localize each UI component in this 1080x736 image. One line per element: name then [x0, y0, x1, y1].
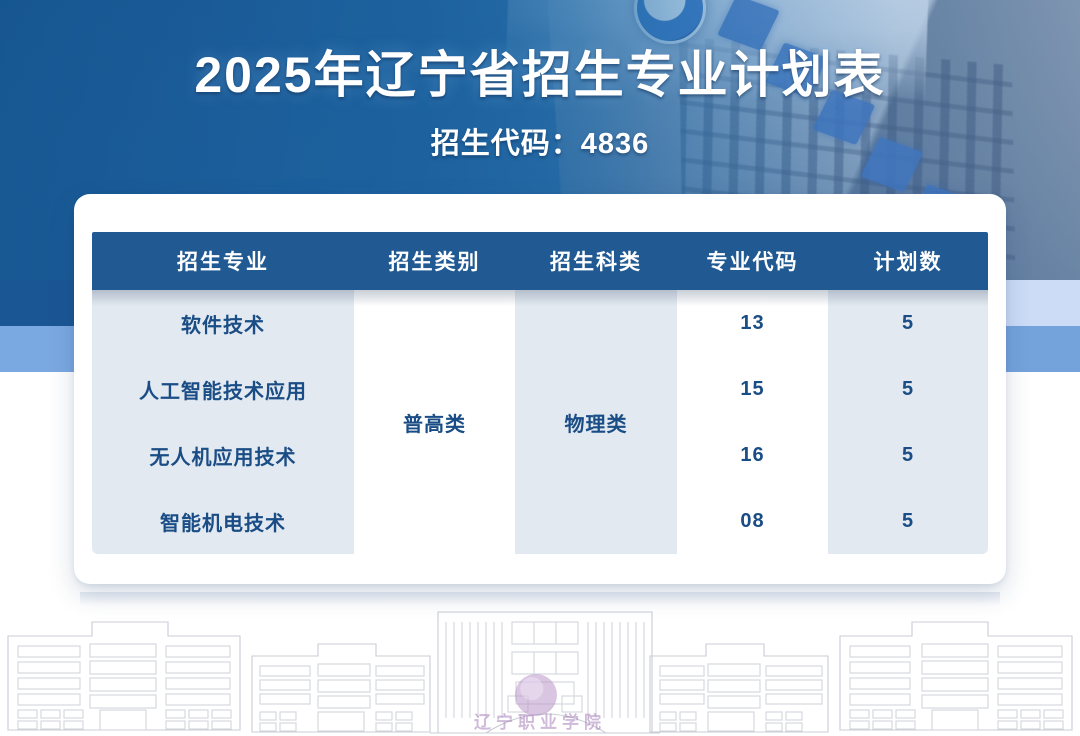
cell-major: 人工智能技术应用: [92, 356, 354, 422]
cell-code: 08: [677, 488, 828, 554]
title-block: 2025年辽宁省招生专业计划表 招生代码：4836: [0, 46, 1080, 162]
table-body: 软件技术 普高类 物理类 13 5 人工智能技术应用 15 5 无人机应用技术 …: [92, 290, 988, 554]
cell-code: 13: [677, 290, 828, 356]
column-header-code: 专业代码: [677, 232, 828, 290]
admission-code-subtitle: 招生代码：4836: [0, 120, 1080, 162]
admission-plan-table: 招生专业 招生类别 招生科类 专业代码 计划数 软件技术 普高类 物理类 13 …: [92, 232, 988, 554]
page-root: 2025年辽宁省招生专业计划表 招生代码：4836 招生专业 招生类别 招生科类…: [0, 0, 1080, 736]
cell-code: 15: [677, 356, 828, 422]
cell-plan: 5: [828, 488, 988, 554]
column-header-category: 招生类别: [354, 232, 515, 290]
table-row: 软件技术 普高类 物理类 13 5: [92, 290, 988, 356]
cell-category-merged: 普高类: [354, 290, 515, 554]
table-header-row: 招生专业 招生类别 招生科类 专业代码 计划数: [92, 232, 988, 290]
column-header-subject: 招生科类: [515, 232, 677, 290]
cell-major: 软件技术: [92, 290, 354, 356]
plan-table-card: 招生专业 招生类别 招生科类 专业代码 计划数 软件技术 普高类 物理类 13 …: [74, 194, 1006, 584]
cell-major: 无人机应用技术: [92, 422, 354, 488]
column-header-major: 招生专业: [92, 232, 354, 290]
cell-subject-merged: 物理类: [515, 290, 677, 554]
cell-plan: 5: [828, 422, 988, 488]
cell-code: 16: [677, 422, 828, 488]
table-header: 招生专业 招生类别 招生科类 专业代码 计划数: [92, 232, 988, 290]
page-title: 2025年辽宁省招生专业计划表: [0, 46, 1080, 104]
cell-plan: 5: [828, 290, 988, 356]
footer-watermark-text: 辽宁职业学院: [0, 708, 1080, 733]
column-header-plan: 计划数: [828, 232, 988, 290]
cell-major: 智能机电技术: [92, 488, 354, 554]
cell-plan: 5: [828, 356, 988, 422]
